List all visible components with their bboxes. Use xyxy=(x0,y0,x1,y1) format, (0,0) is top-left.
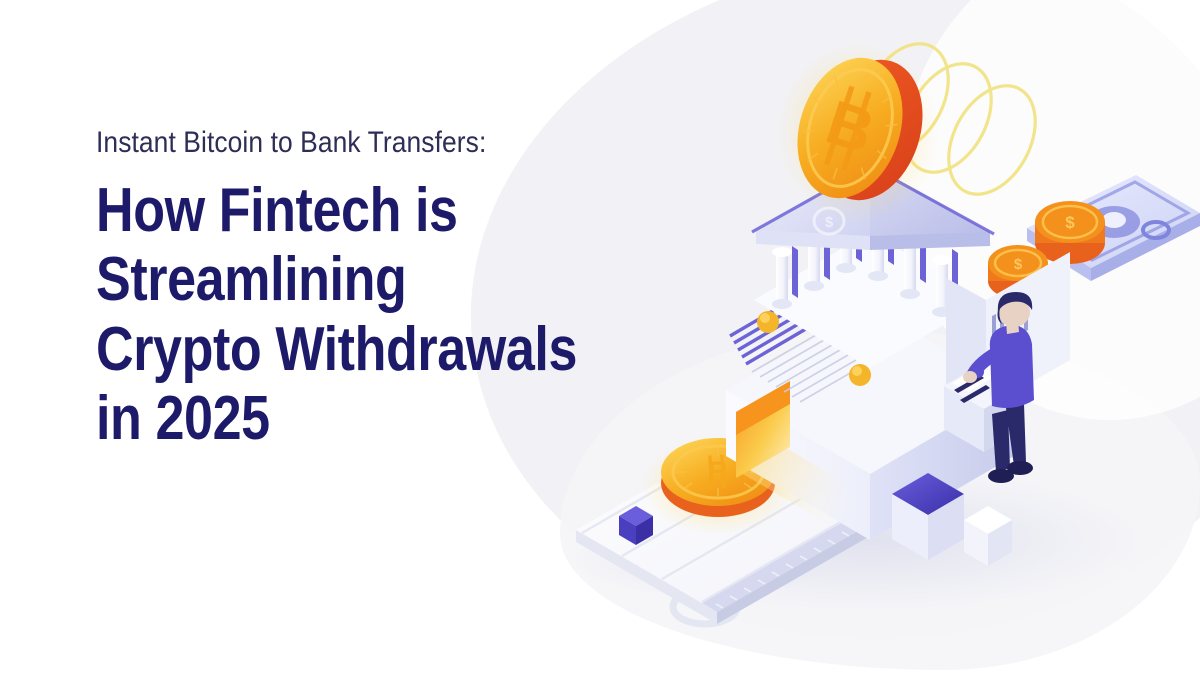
headline-line-2: Streamlining xyxy=(96,245,617,314)
headline-line-1: How Fintech is xyxy=(96,176,617,245)
page-title: How Fintech is Streamlining Crypto Withd… xyxy=(96,176,617,454)
falling-bitcoin-coin: B xyxy=(776,42,940,222)
headline-line-4: in 2025 xyxy=(96,384,617,453)
headline-text-block: Instant Bitcoin to Bank Transfers: How F… xyxy=(96,126,716,454)
hero-banner: Instant Bitcoin to Bank Transfers: How F… xyxy=(0,0,1200,675)
dollar-symbol: $ xyxy=(1014,256,1023,273)
dollar-symbol: $ xyxy=(1065,213,1075,232)
eyebrow-text: Instant Bitcoin to Bank Transfers: xyxy=(96,126,642,159)
headline-line-3: Crypto Withdrawals xyxy=(96,315,617,384)
